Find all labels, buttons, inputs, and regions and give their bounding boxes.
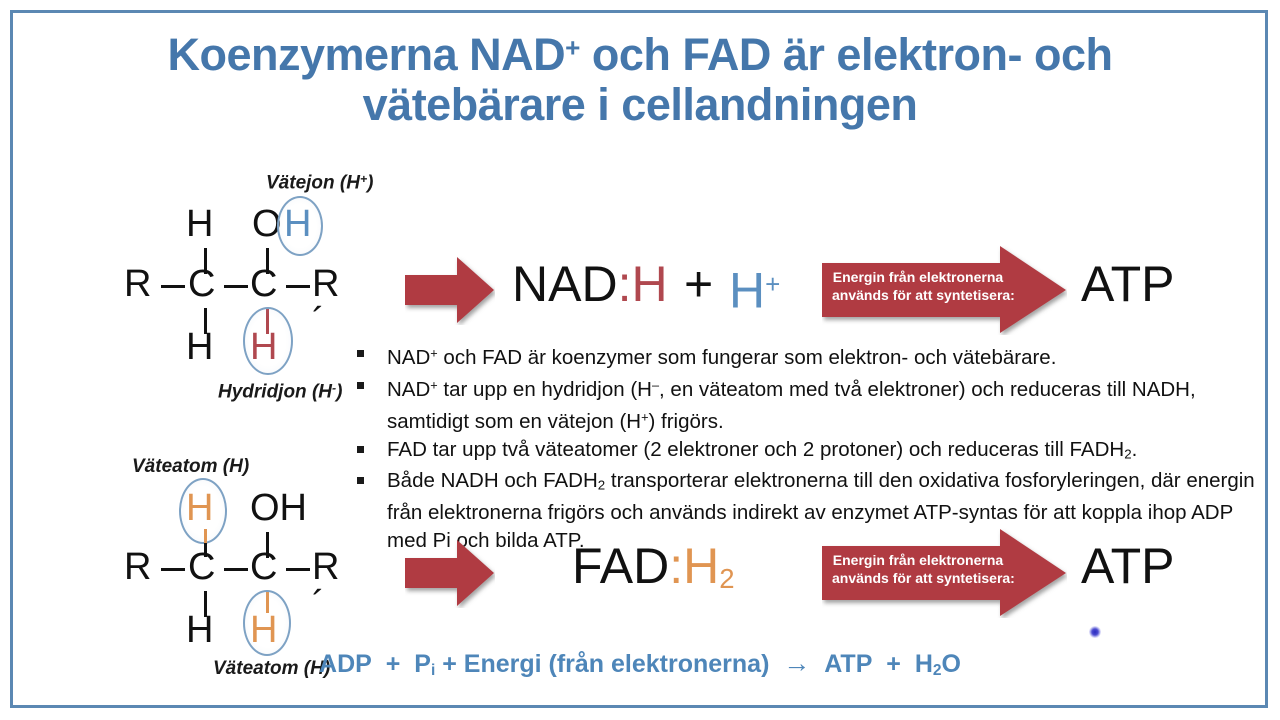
energy-arrow-bottom-line1: Energin från elektronerna — [832, 551, 1004, 569]
label-hydridjon-text: Hydridjon (H — [218, 382, 332, 403]
bond-c2-r-2 — [286, 568, 310, 571]
list-item: NAD+ och FAD är koenzymer som fungerar s… — [355, 340, 1260, 372]
equation-pi-sub: i — [431, 662, 435, 679]
nad-hydrogen: H — [631, 256, 667, 312]
bullet-marker — [357, 446, 364, 453]
free-proton-top: H+ — [729, 258, 780, 316]
fad-hydrogen: H — [683, 538, 719, 594]
nad-text: NAD — [512, 256, 618, 312]
title-line1: Koenzymerna NAD+ och FAD är elektron- oc… — [168, 29, 1113, 80]
reaction-arrow-bottom — [405, 538, 495, 608]
product-fadh2: FAD:H2 — [572, 540, 735, 605]
atom-h-lower-left: H — [186, 328, 213, 366]
slide-canvas: Koenzymerna NAD+ och FAD är elektron- oc… — [0, 0, 1280, 720]
equation-plus-3: + — [886, 650, 901, 678]
atom-r-prime-2: R´ — [312, 548, 339, 624]
reaction-arrow-top — [405, 255, 495, 325]
bond-r-c1-2 — [161, 568, 185, 571]
title-superscript-plus: + — [565, 32, 580, 62]
equation-energi: Energi (från elektronerna) — [464, 650, 770, 678]
label-vatejon-close: ) — [367, 173, 373, 194]
energy-arrow-bottom-line2: används för att syntetisera: — [832, 569, 1004, 587]
free-h-text: H — [729, 262, 765, 318]
bullet-list: NAD+ och FAD är koenzymer som fungerar s… — [355, 340, 1260, 554]
free-h-superscript: + — [765, 269, 780, 299]
label-hydridjon-close: ) — [336, 382, 342, 403]
atp-synthesis-equation: ADP + Pi + Energi (från elektronerna) → … — [0, 648, 1280, 680]
page-title: Koenzymerna NAD+ och FAD är elektron- oc… — [40, 22, 1240, 130]
highlight-ellipse-vatejon — [277, 196, 323, 256]
bond-c1-c2 — [224, 285, 248, 288]
plus-sign-top: + — [684, 258, 713, 310]
label-vateatom-top: Väteatom (H) — [132, 456, 249, 478]
list-item: FAD tar upp två väteatomer (2 elektroner… — [355, 436, 1260, 468]
bond-c1-c2-2 — [224, 568, 248, 571]
title-line2: vätebärare i cellandningen — [363, 79, 918, 130]
bullet-text-3: FAD tar upp två väteatomer (2 elektroner… — [387, 438, 1137, 461]
energy-arrow-top-line1: Energin från elektronerna — [832, 268, 1004, 286]
fad-text: FAD — [572, 538, 669, 594]
equation-plus-1: + — [386, 650, 401, 678]
atom-c2: C — [250, 265, 277, 303]
equation-atp: ATP — [824, 650, 872, 678]
atom-c1: C — [188, 265, 215, 303]
product-nadh: NAD:H — [512, 258, 668, 310]
title-text-a: Koenzymerna NAD — [168, 29, 566, 80]
bullet-text-2: NAD+ tar upp en hydridjon (H–, en väteat… — [387, 378, 1196, 433]
atom-r-left-2: R — [124, 548, 151, 586]
nad-colon: : — [618, 256, 632, 312]
atp-label-bottom: ATP — [1081, 540, 1175, 592]
bullet-marker — [357, 382, 364, 389]
energy-arrow-top-text: Energin från elektronerna används för at… — [832, 268, 1004, 304]
atom-oh: OH — [250, 489, 307, 527]
atom-c2-2: C — [250, 548, 277, 586]
label-hydridjon: Hydridjon (H-) — [218, 381, 342, 404]
equation-pi: P — [414, 650, 431, 678]
bullet-text-1: NAD+ och FAD är koenzymer som fungerar s… — [387, 346, 1056, 369]
equation-h2o-sub: 2 — [933, 662, 942, 679]
energy-arrow-top-line2: används för att syntetisera: — [832, 286, 1004, 304]
bond-c2-r — [286, 285, 310, 288]
atom-r-prime: R´ — [312, 265, 339, 341]
fad-hydrogen-sub: 2 — [719, 563, 734, 594]
bullet-marker — [357, 477, 364, 484]
equation-h2o-o: O — [942, 650, 961, 678]
list-item: NAD+ tar upp en hydridjon (H–, en väteat… — [355, 372, 1260, 436]
equation-arrow-icon: → — [783, 648, 810, 678]
bullet-marker — [357, 350, 364, 357]
fad-colon: : — [669, 538, 683, 594]
highlight-ellipse-vateatom-top — [179, 478, 227, 544]
atom-h-upper-left: H — [186, 205, 213, 243]
energy-arrow-bottom-text: Energin från elektronerna används för at… — [832, 551, 1004, 587]
label-vatejon: Vätejon (H+) — [266, 172, 374, 195]
equation-h2o-h: H — [915, 650, 933, 678]
atom-c1-2: C — [188, 548, 215, 586]
atom-h-lower-left-2: H — [186, 611, 213, 649]
highlight-ellipse-vateatom-bottom — [243, 590, 291, 656]
atp-label-top: ATP — [1081, 258, 1175, 310]
bond-r-c1 — [161, 285, 185, 288]
atom-r-left: R — [124, 265, 151, 303]
cursor-dot — [1089, 626, 1101, 638]
title-text-b: och FAD är elektron- och — [580, 29, 1113, 80]
equation-plus-2: + — [442, 650, 457, 678]
label-vatejon-text: Vätejon (H — [266, 173, 360, 194]
equation-adp: ADP — [319, 650, 372, 678]
highlight-ellipse-hydridjon — [243, 307, 293, 375]
